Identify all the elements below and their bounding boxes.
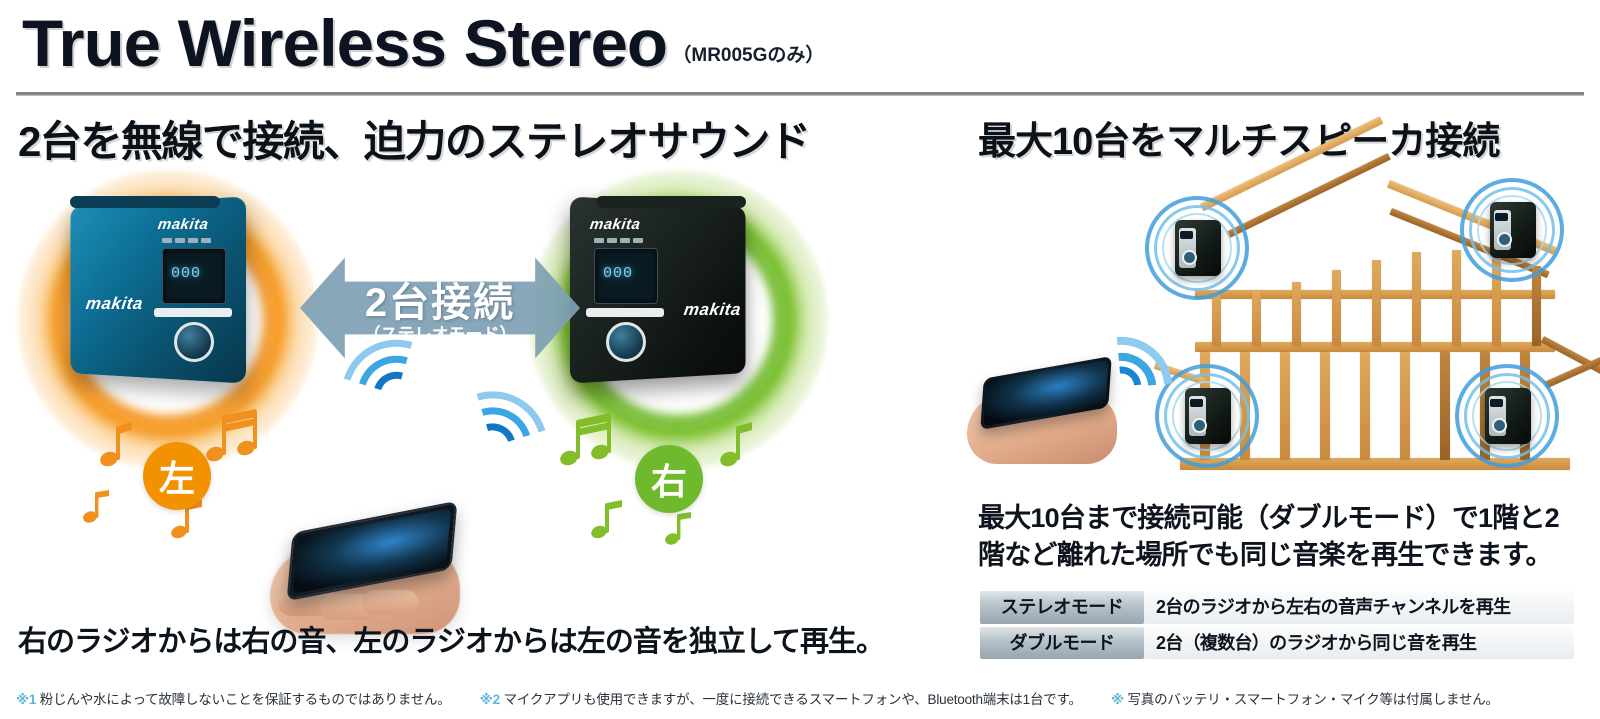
tws-feature-page: True Wireless Stereo （MR005Gのみ） 2台を無線で接続… xyxy=(0,0,1600,719)
footnote-text-2: マイクアプリも使用できますが、一度に接続できるスマートフォンや、Bluetoot… xyxy=(504,692,1082,707)
music-note-icon-green-4 xyxy=(664,512,694,546)
left-caption: 右のラジオからは右の音、左のラジオからは左の音を独立して再生。 xyxy=(18,618,884,660)
speaker-bar-left xyxy=(154,308,232,317)
footnote-mark-3: ※ xyxy=(1111,692,1124,707)
button-row-left xyxy=(162,238,211,243)
volume-knob-right xyxy=(606,322,646,362)
button-row-right xyxy=(594,238,643,243)
speaker-node-4 xyxy=(1455,364,1559,468)
display-panel-left: 000 xyxy=(162,248,226,304)
table-row: ステレオモード 2台のラジオから左右の音声チャンネルを再生 xyxy=(980,591,1574,624)
display-value-right: 000 xyxy=(603,265,633,282)
footnote-text-3: 写真のバッテリ・スマートフォン・マイク等は付属しません。 xyxy=(1127,692,1498,707)
right-headline: 最大10台をマルチスピーカ接続 xyxy=(978,110,1499,165)
music-note-icon-green-3 xyxy=(590,500,626,540)
radio-device-left: makita makita 000 xyxy=(62,202,244,378)
table-row: ダブルモード 2台（複数台）のラジオから同じ音を再生 xyxy=(980,627,1574,660)
brand-label-left-top: makita xyxy=(157,216,210,233)
stereo-illustration: makita makita 000 makita makita 000 xyxy=(0,160,950,610)
channel-badge-left: 左 xyxy=(143,442,211,510)
handle-right xyxy=(596,196,746,208)
mode-detail-cell: 2台のラジオから左右の音声チャンネルを再生 xyxy=(1144,591,1574,624)
hand-holding-phone-right xyxy=(963,346,1153,466)
brand-label-right-side: makita xyxy=(683,300,743,320)
pairing-arrow-badge: 2台接続 （ステレオモード） xyxy=(300,248,580,368)
footnote-mark-2: ※2 xyxy=(480,692,500,707)
music-note-icon-green-2 xyxy=(720,422,754,468)
channel-badge-right: 右 xyxy=(635,445,703,513)
page-title-note: （MR005Gのみ） xyxy=(672,40,824,76)
speaker-node-1 xyxy=(1145,196,1249,300)
right-description: 最大10台まで接続可能（ダブルモード）で1階と2階など離れた場所でも同じ音楽を再… xyxy=(978,500,1578,573)
radio-device-right: makita makita 000 xyxy=(572,202,754,378)
display-value-left: 000 xyxy=(171,265,201,282)
finger-3 xyxy=(362,590,418,615)
music-note-icon-orange-1 xyxy=(100,422,134,468)
music-note-icon-orange-2 xyxy=(206,408,264,466)
footnote-row: ※1 粉じんや水によって故障しないことを保証するものではありません。 ※2 マイ… xyxy=(16,688,1586,708)
mode-detail-cell: 2台（複数台）のラジオから同じ音を再生 xyxy=(1144,627,1574,660)
page-title-row: True Wireless Stereo （MR005Gのみ） xyxy=(22,10,824,76)
mode-name-cell: ダブルモード xyxy=(980,627,1144,660)
footnote-mark-1: ※1 xyxy=(16,692,36,707)
mode-name-cell: ステレオモード xyxy=(980,591,1144,624)
brand-label-left-side: makita xyxy=(85,294,145,314)
speaker-bar-right xyxy=(586,308,664,317)
multi-speaker-illustration xyxy=(955,168,1600,488)
page-title: True Wireless Stereo xyxy=(22,10,667,76)
display-panel-right: 000 xyxy=(594,248,658,304)
brand-label-right-top: makita xyxy=(589,216,642,233)
music-note-icon-orange-4 xyxy=(82,490,112,524)
title-divider xyxy=(16,92,1584,96)
music-note-icon-green-1 xyxy=(560,412,618,470)
footnote-text-1: 粉じんや水によって故障しないことを保証するものではありません。 xyxy=(40,692,451,707)
handle-left xyxy=(70,196,220,208)
speaker-node-2 xyxy=(1460,178,1564,282)
pairing-sublabel: （ステレオモード） xyxy=(300,320,580,345)
mode-comparison-table: ステレオモード 2台のラジオから左右の音声チャンネルを再生 ダブルモード 2台（… xyxy=(980,588,1574,662)
volume-knob-left xyxy=(174,322,214,362)
